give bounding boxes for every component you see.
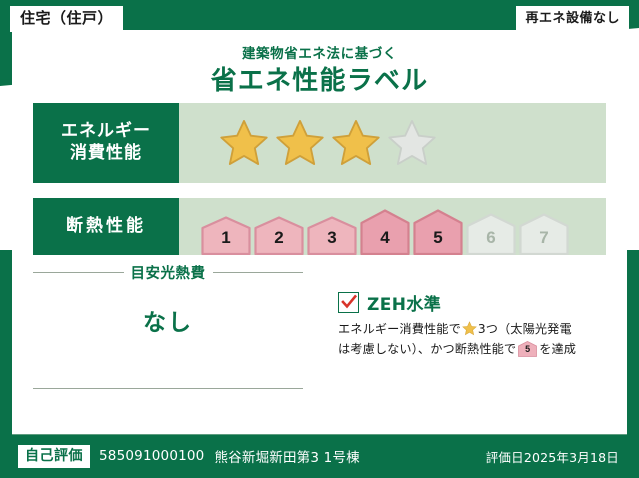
energy-label-root: 住宅（住戸） 再エネ設備なし 建築物省エネ法に基づく 省エネ性能ラベル エネルギ…	[0, 0, 639, 478]
insulation-level-number: 3	[307, 228, 357, 248]
tag-housing-type: 住宅（住戸）	[10, 6, 123, 32]
insulation-level-number: 4	[360, 228, 410, 248]
insulation-level-7: 7	[519, 213, 569, 255]
insulation-level-1: 1	[201, 216, 251, 255]
star-filled-icon	[330, 118, 382, 168]
star-rating	[179, 118, 438, 168]
zeh-title: ZEH水準	[367, 290, 441, 315]
insulation-level-number: 5	[413, 228, 463, 248]
footer-divider	[12, 434, 627, 435]
zeh-desc-stars: 3つ（太陽光発電	[478, 322, 572, 336]
utility-cost-rule	[33, 388, 303, 389]
zeh-heading: ZEH水準	[338, 290, 608, 315]
zeh-desc-part3: を達成	[539, 342, 576, 356]
star-icon	[462, 321, 477, 336]
row-energy-label-line1: エネルギー	[61, 121, 151, 143]
zeh-block: ZEH水準 エネルギー消費性能で3つ（太陽光発電 は考慮しない）、かつ断熱性能で…	[338, 290, 608, 360]
row-insulation-performance: 断熱性能 1234567	[33, 198, 606, 255]
row-energy-performance: エネルギー 消費性能	[33, 103, 606, 183]
utility-cost-heading: 目安光熱費	[33, 262, 303, 283]
row-insulation-label: 断熱性能	[33, 198, 179, 255]
footer-bar: 自己評価 585091000100 熊谷新堀新田第3 1号棟 評価日2025年3…	[0, 434, 639, 478]
evaluation-id: 585091000100	[99, 448, 204, 464]
star-empty-icon	[386, 118, 438, 168]
divider-right	[213, 272, 304, 273]
insulation-level-number: 2	[254, 228, 304, 248]
insulation-level-3: 3	[307, 216, 357, 255]
zeh-desc-part1: エネルギー消費性能で	[338, 322, 461, 336]
insulation-level-number: 6	[466, 228, 516, 248]
zeh-description: エネルギー消費性能で3つ（太陽光発電 は考慮しない）、かつ断熱性能で5を達成	[338, 320, 608, 360]
star-filled-icon	[218, 118, 270, 168]
star-filled-icon	[274, 118, 326, 168]
checkbox-checked-icon	[338, 292, 359, 313]
evaluation-date: 評価日2025年3月18日	[486, 447, 619, 466]
zeh-desc-part2: は考慮しない）、かつ断熱性能で	[338, 342, 516, 356]
insulation-level-6: 6	[466, 213, 516, 255]
house-level-icon: 5	[518, 341, 537, 357]
utility-cost-title: 目安光熱費	[131, 262, 206, 283]
row-energy-value	[179, 103, 606, 183]
insulation-level-number: 1	[201, 228, 251, 248]
row-energy-label: エネルギー 消費性能	[33, 103, 179, 183]
house-level-number: 5	[518, 342, 537, 357]
row-energy-label-line2: 消費性能	[70, 143, 142, 165]
tag-renewable-equipment: 再エネ設備なし	[516, 6, 629, 32]
insulation-level-number: 7	[519, 228, 569, 248]
utility-cost-value: なし	[33, 303, 303, 337]
insulation-level-4: 4	[360, 209, 410, 255]
row-insulation-value: 1234567	[179, 198, 606, 255]
divider-left	[33, 272, 124, 273]
evaluation-type-badge: 自己評価	[18, 445, 90, 468]
insulation-level-5: 5	[413, 209, 463, 255]
insulation-level-scale: 1234567	[179, 198, 569, 255]
label-subtitle: 建築物省エネ法に基づく	[0, 42, 639, 62]
property-name: 熊谷新堀新田第3 1号棟	[214, 446, 359, 466]
insulation-level-2: 2	[254, 216, 304, 255]
page-title: 省エネ性能ラベル	[0, 60, 639, 97]
